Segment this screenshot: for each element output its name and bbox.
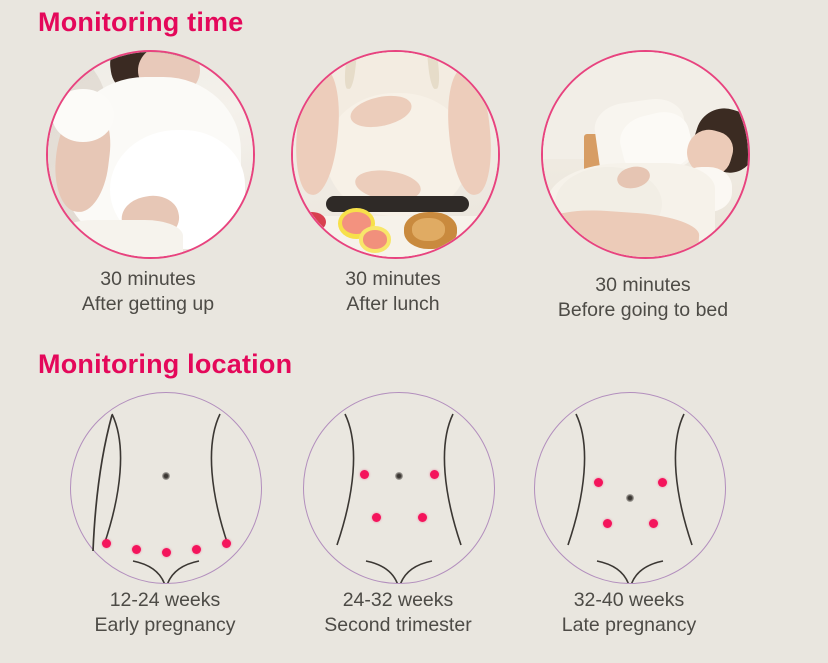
abdomen-outline-icon <box>535 393 725 583</box>
caption-after-lunch: 30 minutes After lunch <box>268 267 518 317</box>
diagram-early-pregnancy <box>70 392 262 584</box>
navel-marker <box>395 472 403 480</box>
measure-dot <box>430 470 439 479</box>
caption-line-2: Early pregnancy <box>40 613 290 638</box>
caption-before-going-to-bed: 30 minutes Before going to bed <box>518 273 768 323</box>
caption-line-2: Before going to bed <box>518 298 768 323</box>
measure-dot <box>418 513 427 522</box>
caption-line-2: After lunch <box>268 292 518 317</box>
caption-line-2: Late pregnancy <box>504 613 754 638</box>
photo-after-lunch <box>291 50 500 259</box>
measure-dot <box>132 545 141 554</box>
caption-line-2: Second trimester <box>273 613 523 638</box>
measure-dot <box>162 548 171 557</box>
photo-before-going-to-bed <box>541 50 750 259</box>
caption-line-2: After getting up <box>23 292 273 317</box>
diagram-late-pregnancy <box>534 392 726 584</box>
caption-line-1: 30 minutes <box>23 267 273 292</box>
measure-dot <box>658 478 667 487</box>
measure-dot <box>102 539 111 548</box>
abdomen-outline-icon <box>304 393 494 583</box>
caption-early-pregnancy: 12-24 weeks Early pregnancy <box>40 588 290 638</box>
caption-line-1: 12-24 weeks <box>40 588 290 613</box>
caption-line-1: 32-40 weeks <box>504 588 754 613</box>
caption-line-1: 30 minutes <box>268 267 518 292</box>
navel-marker <box>162 472 170 480</box>
caption-late-pregnancy: 32-40 weeks Late pregnancy <box>504 588 754 638</box>
page-title-monitoring-location: Monitoring location <box>38 349 292 380</box>
caption-line-1: 30 minutes <box>518 273 768 298</box>
measure-dot <box>372 513 381 522</box>
measure-dot <box>649 519 658 528</box>
caption-second-trimester: 24-32 weeks Second trimester <box>273 588 523 638</box>
page-title-monitoring-time: Monitoring time <box>38 7 243 38</box>
measure-dot <box>594 478 603 487</box>
measure-dot <box>360 470 369 479</box>
diagram-second-trimester <box>303 392 495 584</box>
navel-marker <box>626 494 634 502</box>
measure-dot <box>603 519 612 528</box>
caption-line-1: 24-32 weeks <box>273 588 523 613</box>
measure-dot <box>192 545 201 554</box>
measure-dot <box>222 539 231 548</box>
caption-after-getting-up: 30 minutes After getting up <box>23 267 273 317</box>
photo-after-getting-up <box>46 50 255 259</box>
